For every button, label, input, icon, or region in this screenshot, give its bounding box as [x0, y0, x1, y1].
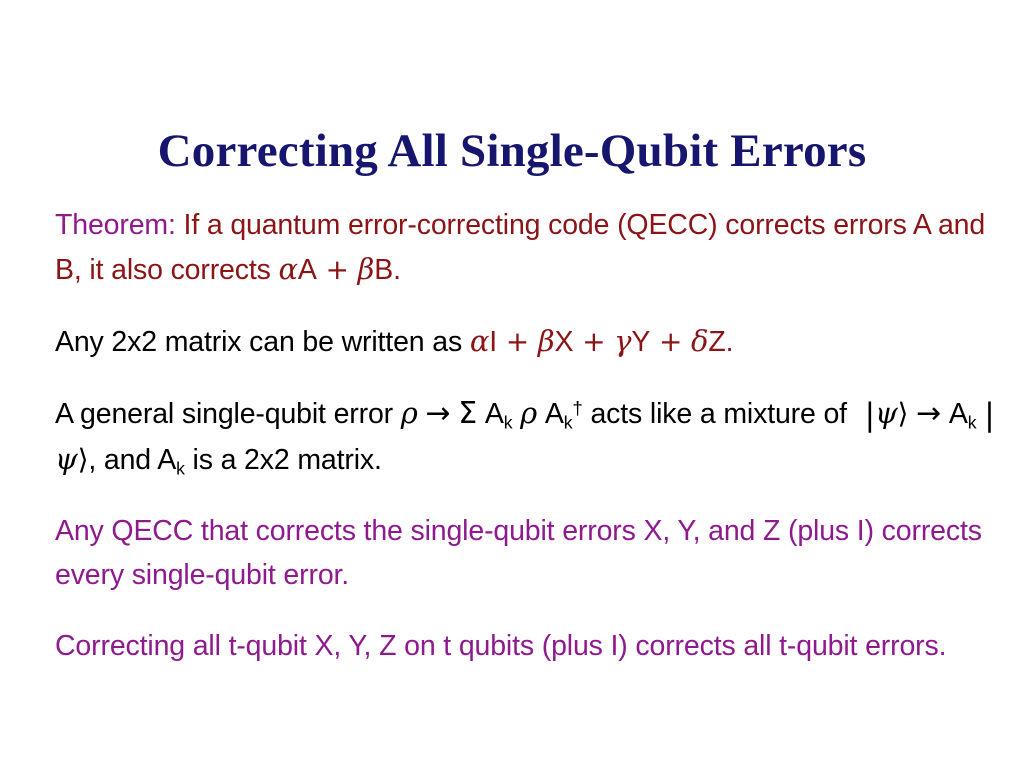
- slide-body: Theorem: If a quantum error-correcting c…: [55, 203, 1010, 668]
- general-error-mid-text: acts like a mixture of: [590, 398, 846, 430]
- operator-a-letter: A: [485, 398, 504, 430]
- operator-a-letter: A: [949, 398, 968, 430]
- operator-a: Ak: [485, 398, 513, 430]
- operator-a-letter: A: [545, 398, 564, 430]
- beta-symbol: β: [538, 324, 555, 358]
- plus-symbol: +: [573, 325, 614, 358]
- operator-a: Ak: [949, 398, 977, 430]
- alpha-symbol: α: [470, 324, 489, 358]
- paragraph-general-error: A general single-qubit error ρ → Σ Ak ρ …: [55, 391, 1010, 482]
- ket-bar-icon: |: [984, 393, 994, 437]
- ket-angle-icon: ⟩: [78, 443, 89, 476]
- beta-symbol: β: [358, 252, 375, 286]
- rho-symbol: ρ: [520, 396, 537, 430]
- right-arrow-icon: →: [916, 396, 941, 431]
- ket-bar-icon: |: [865, 393, 875, 437]
- operator-b: B.: [374, 254, 401, 286]
- theorem-lead-text: If a quantum error-correcting code (QECC…: [55, 209, 985, 286]
- ket-spacer: [855, 398, 865, 430]
- operator-a: Ak: [157, 444, 185, 476]
- paragraph-matrix-decomposition: Any 2x2 matrix can be written as αI + βX…: [55, 319, 1010, 364]
- matrix-lead-text: Any 2x2 matrix can be written as: [55, 326, 470, 358]
- ket-psi-initial: |ψ⟩: [865, 398, 909, 430]
- rho-symbol: ρ: [401, 396, 418, 430]
- operator-z: Z: [708, 326, 725, 358]
- gamma-symbol: γ: [614, 324, 631, 358]
- period-mark: .: [726, 326, 734, 358]
- paragraph-qecc-xyz: Any QECC that corrects the single-qubit …: [55, 509, 1010, 597]
- subscript-k: k: [176, 459, 185, 479]
- theorem-spacer: [176, 209, 184, 241]
- plus-symbol: +: [650, 325, 691, 358]
- plus-symbol: +: [497, 325, 538, 358]
- subscript-k: k: [968, 413, 977, 433]
- general-error-lead-text: A general single-qubit error: [55, 398, 401, 430]
- operator-y: Y: [631, 326, 650, 358]
- psi-symbol: ψ: [875, 396, 898, 430]
- operator-x: X: [554, 326, 573, 358]
- slide-canvas: Correcting All Single-Qubit Errors Theor…: [0, 0, 1024, 768]
- general-error-tail-comma: , and: [88, 444, 157, 476]
- psi-symbol: ψ: [55, 442, 78, 476]
- dagger-symbol: †: [572, 398, 582, 419]
- operator-a: A: [298, 254, 317, 286]
- general-error-tail-text: is a 2x2 matrix.: [185, 444, 382, 476]
- theorem-label: Theorem:: [55, 209, 176, 241]
- operator-i: I: [489, 326, 497, 358]
- sigma-symbol: Σ: [458, 396, 477, 431]
- paragraph-t-qubit: Correcting all t-qubit X, Y, Z on t qubi…: [55, 624, 1010, 668]
- page-title: Correcting All Single-Qubit Errors: [0, 127, 1024, 176]
- delta-symbol: δ: [691, 324, 708, 358]
- paragraph-theorem: Theorem: If a quantum error-correcting c…: [55, 203, 1010, 292]
- alpha-symbol: α: [278, 252, 297, 286]
- right-arrow-icon: →: [425, 396, 450, 431]
- operator-a-letter: A: [157, 444, 176, 476]
- plus-symbol: +: [317, 253, 358, 286]
- subscript-k: k: [504, 413, 513, 433]
- operator-a-dagger: Ak†: [545, 398, 583, 430]
- ket-angle-icon: ⟩: [898, 397, 909, 430]
